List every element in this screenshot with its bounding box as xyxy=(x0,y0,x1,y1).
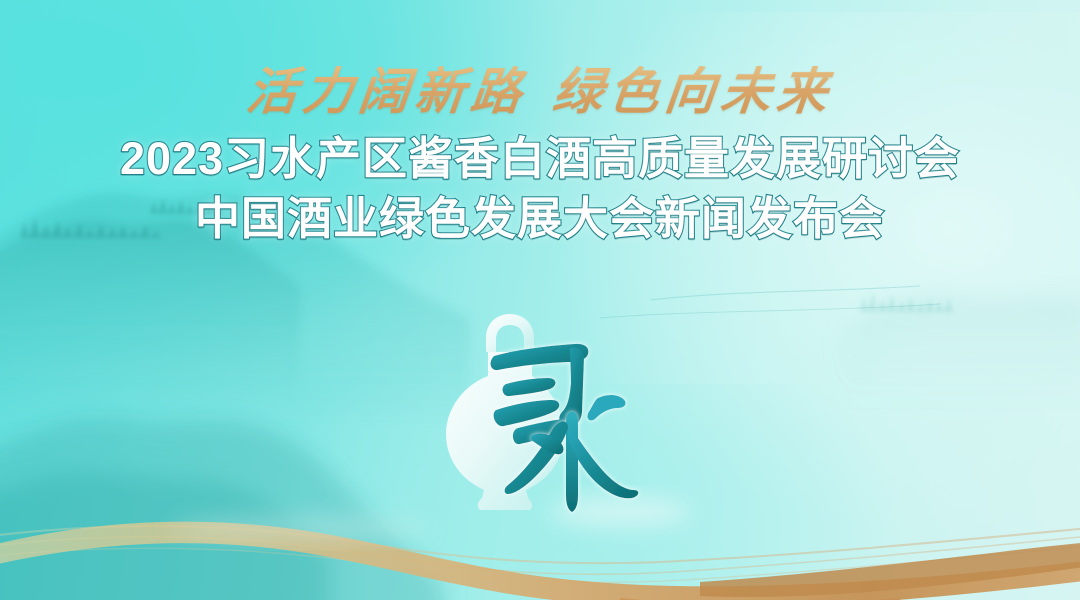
tagline-part-1: 活力阔新路 xyxy=(244,64,530,120)
title-line-2: 中国酒业绿色发展大会新闻发布会 xyxy=(0,192,1080,246)
headline-block: 活力阔新路绿色向未来 2023习水产区酱香白酒高质量发展研讨会 中国酒业绿色发展… xyxy=(0,64,1080,246)
poster-canvas: 活力阔新路绿色向未来 2023习水产区酱香白酒高质量发展研讨会 中国酒业绿色发展… xyxy=(0,0,1080,600)
title-line-1: 2023习水产区酱香白酒高质量发展研讨会 xyxy=(0,132,1080,186)
tagline: 活力阔新路绿色向未来 xyxy=(0,64,1080,120)
tagline-part-2: 绿色向未来 xyxy=(550,64,836,120)
xishui-logo xyxy=(418,300,678,530)
